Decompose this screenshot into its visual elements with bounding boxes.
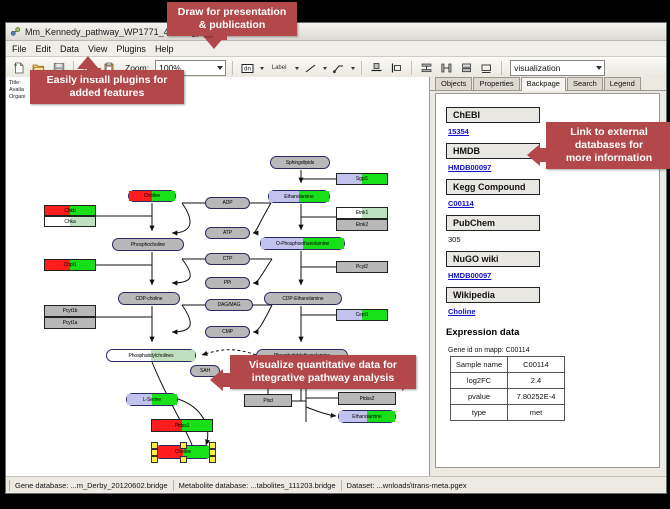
gene-node-pcyt2[interactable]: Pcyt2: [336, 261, 388, 273]
visualize-callout-stem-right: [398, 373, 406, 387]
gene-node-ptdss2[interactable]: Ptdss2: [338, 392, 396, 405]
node-label: Ptdss1: [175, 423, 190, 429]
metabolite-node-cmp[interactable]: CMP: [205, 326, 250, 338]
tab-objects[interactable]: Objects: [435, 77, 472, 90]
interaction-tool[interactable]: [330, 60, 347, 77]
gene-node-pcyt1a[interactable]: Pcyt1a: [44, 317, 96, 329]
label-tool[interactable]: Label: [267, 60, 291, 77]
selection-handle[interactable]: [180, 456, 187, 463]
node-label: Ptdss2: [360, 396, 375, 402]
node-label: Cept1: [356, 312, 369, 318]
node-label: ATP: [223, 230, 232, 236]
visualize-callout: Visualize quantitative data forintegrati…: [230, 355, 416, 389]
node-label: Pcyt2: [356, 264, 368, 270]
align-bottom-icon[interactable]: [368, 60, 385, 77]
selection-handle[interactable]: [209, 456, 216, 463]
svg-text:dn: dn: [244, 66, 251, 72]
node-label: SAH: [200, 368, 210, 374]
pathvisio-icon: [10, 26, 21, 37]
gene-node-chpt1[interactable]: Chpt1: [44, 259, 96, 271]
node-label: PPi: [224, 280, 231, 286]
status-bar: Gene database: ...m_Derby_20120602.bridg…: [6, 476, 666, 493]
node-label: CDP-choline: [136, 296, 163, 302]
plugins-callout-text: Easily install plugins foradded features: [47, 74, 168, 99]
new-file-icon[interactable]: [10, 60, 27, 77]
chevron-down-icon[interactable]: [351, 67, 355, 70]
metabolite-node-adp[interactable]: ADP: [205, 197, 250, 209]
node-label: L-Serine: [143, 397, 161, 403]
db-link-nugo-wiki[interactable]: HMDB00097: [448, 271, 651, 280]
align-left-icon[interactable]: [388, 60, 405, 77]
db-link-wikipedia[interactable]: Choline: [448, 307, 651, 316]
links-callout-text: Link to externaldatabases formore inform…: [566, 126, 652, 164]
node-label: Ethanolamine: [352, 414, 381, 420]
tab-properties[interactable]: Properties: [473, 77, 519, 90]
metabolite-node-cdp-choline[interactable]: CDP-choline: [118, 292, 180, 305]
toolbar-separator: [411, 61, 412, 75]
expression-section: Expression data Gene id on mapp: C00114 …: [436, 327, 659, 421]
metabolite-node-sphingolipids[interactable]: Sphingolipids: [270, 156, 330, 169]
gene-node-ptdss1[interactable]: Ptdss1: [151, 419, 213, 432]
node-label: Etnk2: [356, 222, 368, 228]
node-label: Sgpl1: [356, 176, 368, 182]
expression-value: 7.80252E-4: [508, 389, 565, 405]
stack-icon[interactable]: [458, 60, 475, 77]
metabolite-node-choline-top[interactable]: Choline: [128, 190, 176, 202]
gene-node-chkb[interactable]: Chkb: [44, 205, 96, 216]
menu-edit[interactable]: Edit: [36, 44, 52, 54]
gene-id-line: Gene id on mapp: C00114: [448, 347, 651, 354]
node-label: Phosphatidylcholines: [129, 353, 174, 359]
label-tool-text: Label: [272, 65, 287, 71]
selection-handle[interactable]: [151, 456, 158, 463]
draw-callout-stem: [213, 28, 227, 40]
expression-row: Sample nameC00114: [451, 357, 565, 373]
gene-node-pcyt1b[interactable]: Pcyt1b: [44, 305, 96, 317]
expression-row: log2FC2.4: [451, 373, 565, 389]
menu-view[interactable]: View: [88, 44, 107, 54]
side-panel-tabs[interactable]: Objects Properties Backpage Search Legen…: [430, 77, 666, 91]
expression-value: C00114: [508, 357, 565, 373]
gene-node-etnk1[interactable]: Etnk1: [336, 207, 388, 219]
gene-node-pisd[interactable]: Pisd: [244, 394, 292, 407]
selection-handle[interactable]: [180, 442, 187, 449]
chevron-down-icon: [217, 66, 223, 70]
node-label: DAG/MAG: [218, 302, 241, 308]
screenshot-root: Mm_Kennedy_pathway_WP1771_45176.gpml Fil…: [0, 0, 670, 509]
node-label: ADP: [223, 200, 233, 206]
expression-title: Expression data: [446, 327, 651, 338]
title-bar: Mm_Kennedy_pathway_WP1771_45176.gpml: [6, 23, 666, 41]
menu-bar[interactable]: File Edit Data View Plugins Help: [6, 41, 666, 57]
metabolite-node-cdp-ethanolamine[interactable]: CDP-Ethanolamine: [264, 292, 342, 305]
gene-node-chka[interactable]: Chka: [44, 216, 96, 227]
tab-search[interactable]: Search: [567, 77, 603, 90]
node-label: CMP: [222, 329, 233, 335]
metabolite-node-ethanolamine-bottom[interactable]: Ethanolamine: [338, 410, 396, 423]
node-label: Chkb: [64, 208, 75, 214]
gene-node-sgpl1[interactable]: Sgpl1: [336, 173, 388, 185]
selection-handle[interactable]: [151, 449, 158, 456]
db-link-kegg-compound[interactable]: C00114: [448, 199, 651, 208]
db-header-hmdb: HMDB: [446, 143, 540, 159]
distribute-horizontal-icon[interactable]: [438, 60, 455, 77]
node-label: CDP-Ethanolamine: [282, 296, 323, 302]
db-value-pubchem: 305: [448, 235, 651, 244]
links-callout: Link to externaldatabases formore inform…: [546, 122, 670, 169]
metabolite-node-phosphocholine[interactable]: Phosphocholine: [112, 238, 184, 251]
tab-legend[interactable]: Legend: [604, 77, 641, 90]
distribute-vertical-icon[interactable]: [418, 60, 435, 77]
status-metabolite-database: Metabolite database: ...tabolites_111203…: [173, 480, 341, 491]
common-width-icon[interactable]: [478, 60, 495, 77]
gene-node-etnk2[interactable]: Etnk2: [336, 219, 388, 231]
plugins-callout-stem: [87, 68, 101, 78]
chevron-down-icon[interactable]: [260, 67, 264, 70]
visualize-callout-text: Visualize quantitative data forintegrati…: [249, 359, 397, 384]
visualization-value: visualization: [514, 63, 560, 73]
expression-value: met: [508, 405, 565, 421]
node-label: Chka: [64, 219, 75, 225]
node-label: O-Phosphoethanolamine: [276, 241, 329, 247]
metabolite-node-ctp[interactable]: CTP: [205, 253, 250, 265]
node-label: Choline: [175, 449, 191, 455]
expression-row: pvalue7.80252E-4: [451, 389, 565, 405]
visualize-callout-stem-left: [221, 373, 233, 387]
metabolite-node-phosphatidylcholines[interactable]: Phosphatidylcholines: [106, 349, 196, 362]
selection-handle[interactable]: [151, 442, 158, 449]
db-header-kegg-compound: Kegg Compound: [446, 179, 540, 195]
menu-plugins[interactable]: Plugins: [116, 44, 146, 54]
menu-file[interactable]: File: [12, 44, 27, 54]
node-label: Pcyt1a: [63, 320, 78, 326]
node-label: Sphingolipids: [286, 160, 314, 166]
expression-value: 2.4: [508, 373, 565, 389]
status-dataset: Dataset: ...wnloads\trans-meta.pgex: [341, 480, 472, 491]
node-label: Pisd: [263, 398, 272, 404]
db-header-wikipedia: Wikipedia: [446, 287, 540, 303]
node-label: Ethanolamine: [284, 194, 313, 200]
db-header-chebi: ChEBI: [446, 107, 540, 123]
metabolite-node-dagmag[interactable]: DAG/MAG: [205, 299, 253, 311]
expression-key: log2FC: [451, 373, 508, 389]
plugins-callout: Easily install plugins foradded features: [30, 70, 184, 104]
menu-help[interactable]: Help: [155, 44, 174, 54]
links-callout-stem: [538, 148, 550, 162]
selection-handle[interactable]: [209, 449, 216, 456]
draw-callout: Draw for presentation& publication: [167, 2, 297, 36]
toolbar-separator: [501, 61, 502, 75]
menu-data[interactable]: Data: [60, 44, 79, 54]
expression-row: typemet: [451, 405, 565, 421]
line-tool[interactable]: [302, 60, 319, 77]
metabolite-node-ppi[interactable]: PPi: [205, 277, 250, 289]
node-label: Chpt1: [64, 262, 77, 268]
datanode-icon[interactable]: dn: [239, 60, 256, 77]
expression-key: type: [451, 405, 508, 421]
chevron-down-icon[interactable]: [323, 67, 327, 70]
db-header-pubchem: PubChem: [446, 215, 540, 231]
tab-backpage[interactable]: Backpage: [521, 77, 566, 91]
node-label: Etnk1: [356, 210, 368, 216]
metabolite-node-o-phosphoethanolamine[interactable]: O-Phosphoethanolamine: [260, 237, 345, 250]
chevron-down-icon: [596, 66, 602, 70]
metabolite-node-atp[interactable]: ATP: [205, 227, 250, 239]
status-gene-database: Gene database: ...m_Derby_20120602.bridg…: [9, 480, 173, 491]
gene-node-cept1[interactable]: Cept1: [336, 309, 388, 321]
selection-handle[interactable]: [209, 442, 216, 449]
metabolite-node-ethanolamine-top[interactable]: Ethanolamine: [268, 190, 330, 203]
toolbar-separator: [361, 61, 362, 75]
pathway-canvas[interactable]: Title: Availa Organi: [6, 77, 430, 476]
node-label: Choline: [144, 193, 160, 199]
node-label: CTP: [223, 256, 233, 262]
expression-table: Sample nameC00114log2FC2.4pvalue7.80252E…: [450, 356, 565, 421]
toolbar-separator: [232, 61, 233, 75]
draw-callout-text: Draw for presentation& publication: [178, 6, 287, 31]
node-label: Phosphocholine: [131, 242, 165, 248]
expression-key: pvalue: [451, 389, 508, 405]
db-header-nugo-wiki: NuGO wiki: [446, 251, 540, 267]
chevron-down-icon[interactable]: [295, 67, 299, 70]
visualization-combo[interactable]: visualization: [510, 60, 605, 76]
expression-key: Sample name: [451, 357, 508, 373]
metabolite-node-l-serine-left[interactable]: L-Serine: [126, 393, 178, 406]
node-label: Pcyt1b: [63, 308, 78, 314]
